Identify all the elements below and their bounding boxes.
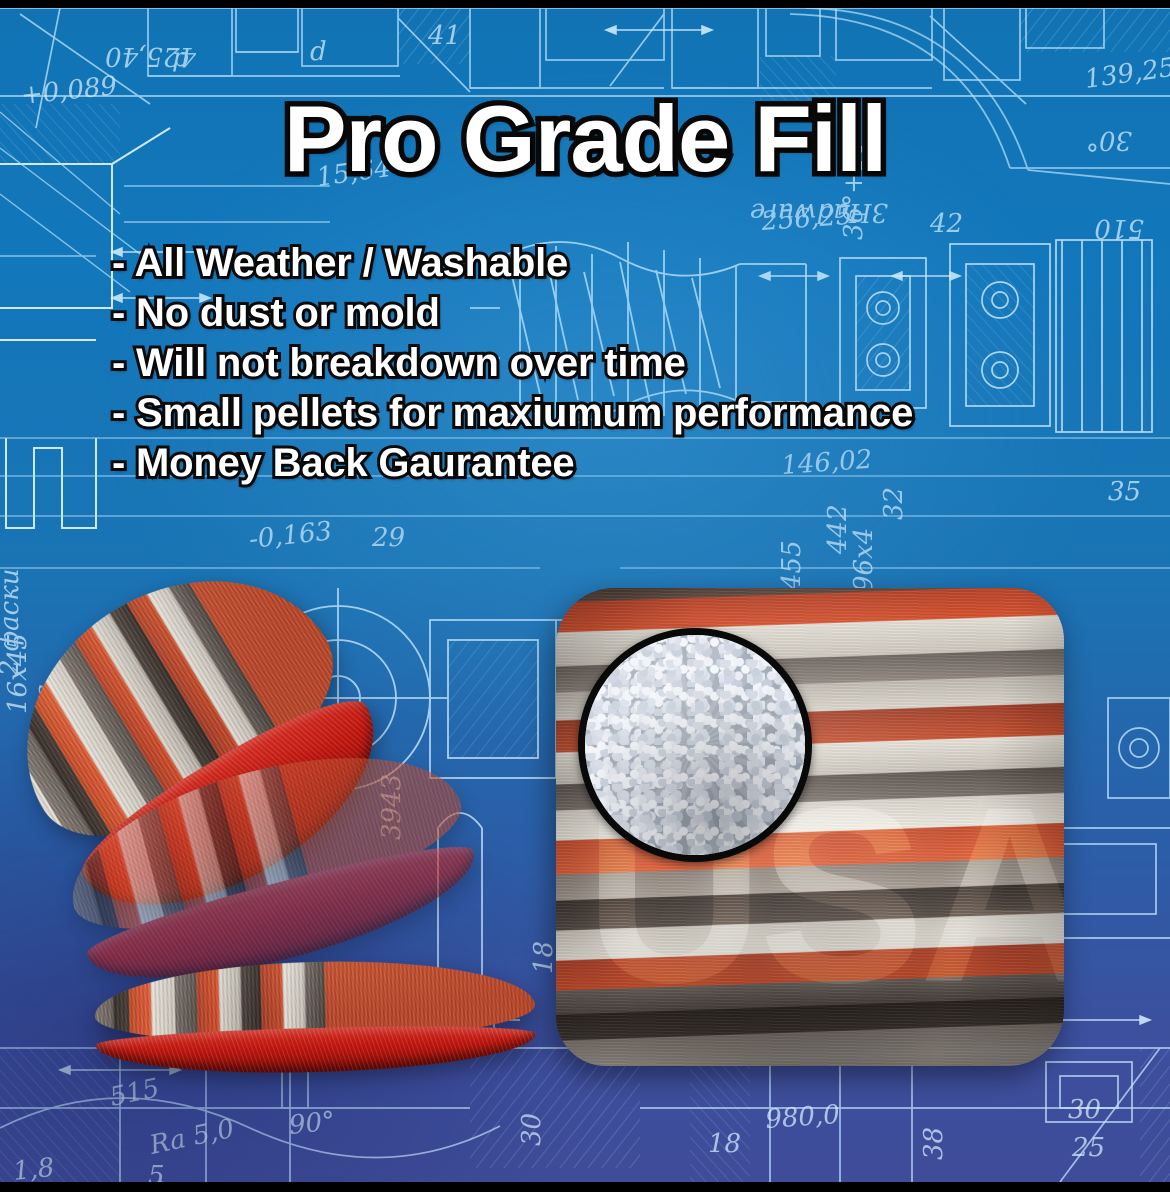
feature-list: - All Weather / Washable - No dust or mo… <box>112 238 1122 488</box>
pellet-closeup-circle <box>578 628 812 862</box>
blueprint-annotation: 139,25 <box>1083 53 1170 95</box>
pellet-shading <box>585 635 805 855</box>
blueprint-annotation: 455 <box>777 540 807 591</box>
blueprint-annotation: 1,8 <box>12 1153 56 1182</box>
feature-item: - No dust or mold <box>112 288 1122 338</box>
blueprint-annotation: 980,0 <box>764 1100 840 1135</box>
blueprint-annotation: 3Hadwure <box>750 197 888 227</box>
blueprint-annotation: 30 <box>1068 1095 1101 1125</box>
blueprint-annotation: 30 <box>517 1113 547 1146</box>
feature-item: - All Weather / Washable <box>112 238 1122 288</box>
blueprint-annotation: 41 <box>427 21 461 51</box>
feature-item: - Money Back Gaurantee <box>112 438 1122 488</box>
blueprint-annotation: 18 <box>708 1129 741 1159</box>
ad-creative: +0,089425,40pd4115,64139,2530°510256,253… <box>0 0 1170 1192</box>
blueprint-annotation: 38 <box>919 1127 949 1160</box>
feature-item: - Small pellets for maxiumum performance <box>112 388 1122 438</box>
blueprint-annotation: 25 <box>1071 1133 1105 1163</box>
blueprint-annotation: 51,4 <box>138 1177 196 1182</box>
blueprint-annotation: p <box>172 43 189 73</box>
blueprint-annotation: d <box>310 37 327 67</box>
blueprint-annotation: 96x4 <box>849 528 879 592</box>
blueprint-annotation: 29 <box>371 523 405 553</box>
blueprint-annotation: 90° <box>288 1106 337 1141</box>
page-title: Pro Grade Fill <box>0 92 1170 186</box>
blueprint-annotation: 32 <box>879 487 909 520</box>
blueprint-annotation: 42 <box>929 209 963 239</box>
feature-item: - Will not breakdown over time <box>112 338 1122 388</box>
blueprint-annotation: Ra 5,0 <box>146 1114 237 1161</box>
